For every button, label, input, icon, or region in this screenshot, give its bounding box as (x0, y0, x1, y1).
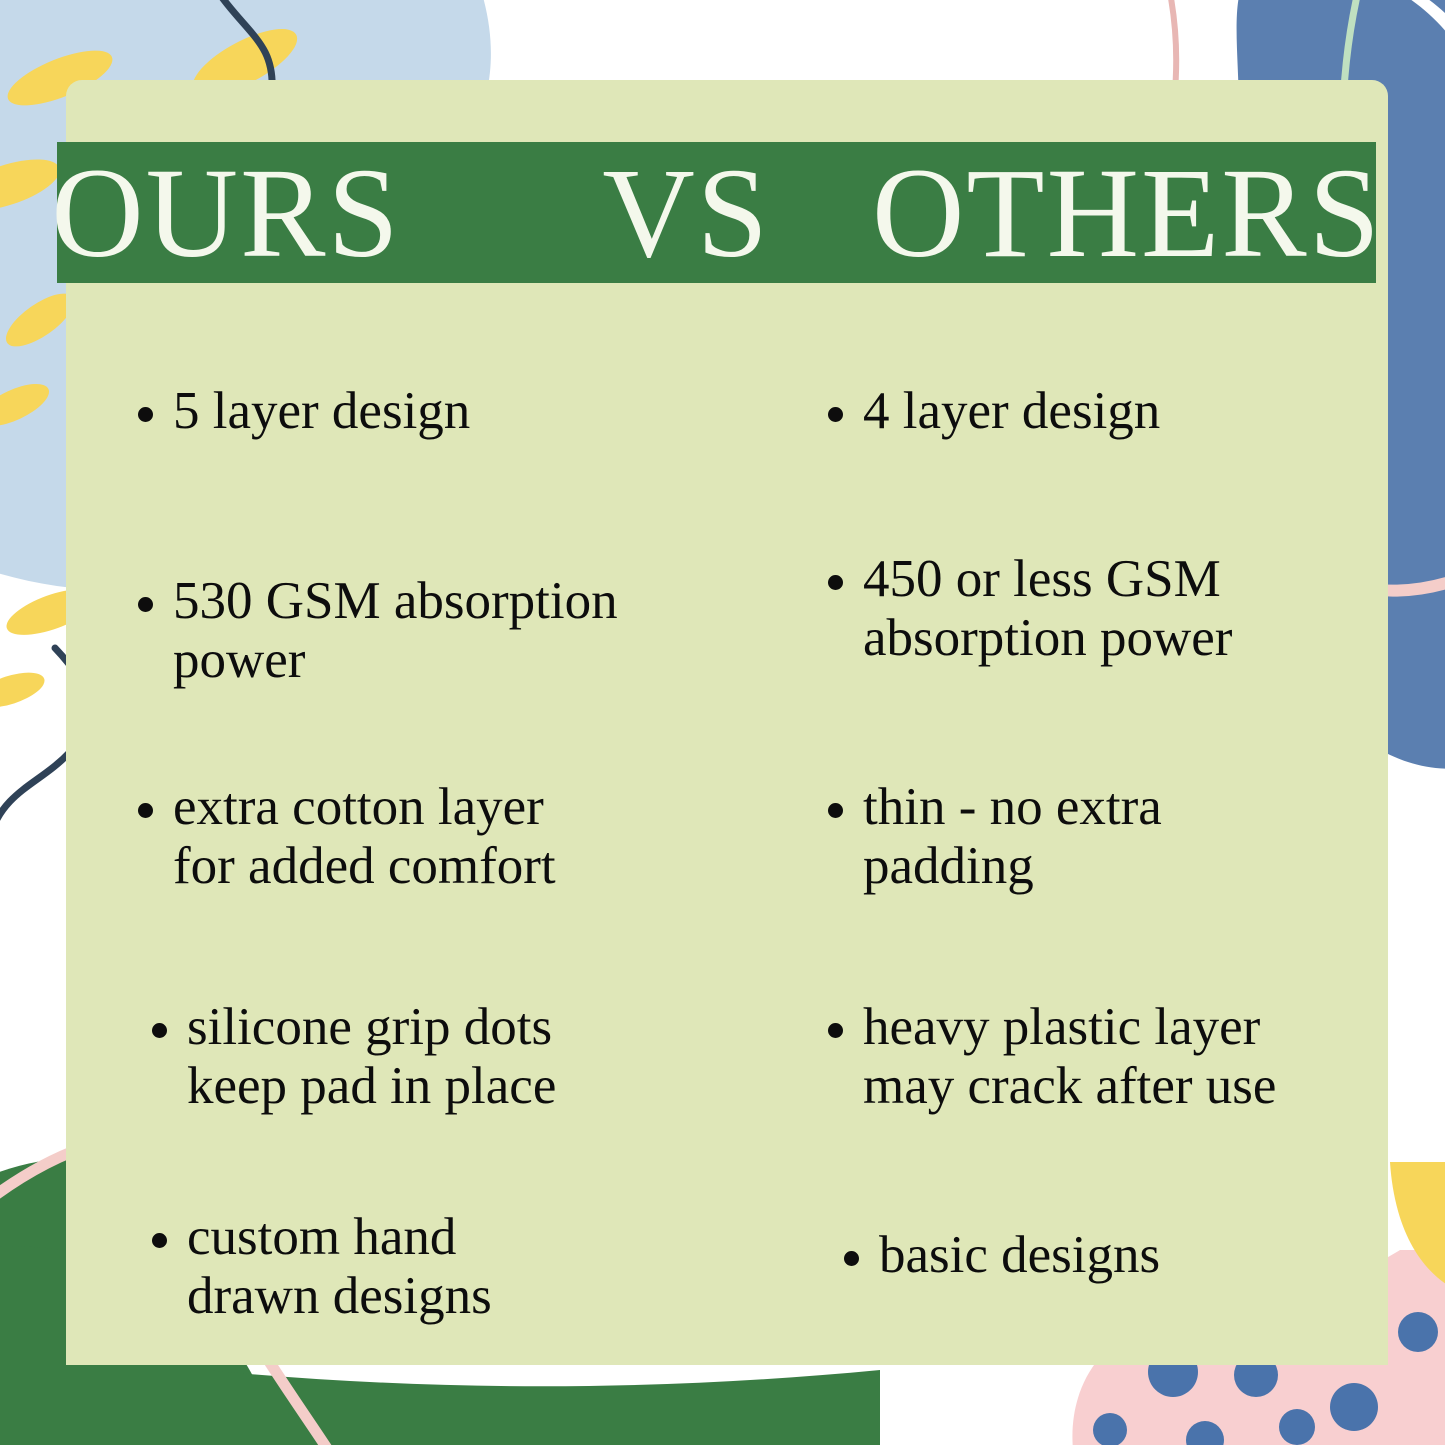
list-item: heavy plastic layer may crack after use (828, 998, 1276, 1117)
dot-blue-5 (1279, 1409, 1315, 1445)
bullet-dot-icon (152, 1023, 167, 1038)
list-item-label: silicone grip dots keep pad in place (187, 998, 556, 1117)
list-item-label: 5 layer design (173, 382, 470, 441)
list-item-label: custom hand drawn designs (187, 1208, 492, 1327)
comparison-card: OURS VS OTHERS 5 layer design 530 GSM ab… (66, 80, 1388, 1365)
list-item: silicone grip dots keep pad in place (152, 998, 556, 1117)
list-item-label: heavy plastic layer may crack after use (863, 998, 1276, 1117)
bullet-dot-icon (138, 803, 153, 818)
list-item: 5 layer design (138, 382, 470, 441)
list-item: 4 layer design (828, 382, 1160, 441)
bullet-dot-icon (828, 1023, 843, 1038)
list-item: custom hand drawn designs (152, 1208, 492, 1327)
dot-blue-4 (1330, 1383, 1378, 1431)
bullet-dot-icon (138, 597, 153, 612)
list-item: thin - no extra padding (828, 778, 1162, 897)
list-item-label: 530 GSM absorption power (173, 572, 618, 691)
list-item-label: 450 or less GSM absorption power (863, 550, 1232, 669)
header-banner: OURS VS OTHERS (57, 142, 1376, 283)
dot-blue-6 (1398, 1312, 1438, 1352)
list-item: basic designs (844, 1226, 1160, 1285)
list-item: 450 or less GSM absorption power (828, 550, 1232, 669)
bullet-dot-icon (844, 1251, 859, 1266)
bullet-dot-icon (138, 407, 153, 422)
comparison-columns: 5 layer design 530 GSM absorption power … (66, 360, 1388, 1365)
blob-bottom-strip-green (185, 1368, 880, 1445)
list-item: extra cotton layer for added comfort (138, 778, 556, 897)
list-item-label: basic designs (879, 1226, 1160, 1285)
list-item-label: thin - no extra padding (863, 778, 1162, 897)
column-others: 4 layer design 450 or less GSM absorptio… (806, 360, 1388, 1365)
column-ours: 5 layer design 530 GSM absorption power … (66, 360, 806, 1365)
list-item-label: extra cotton layer for added comfort (173, 778, 556, 897)
bullet-dot-icon (828, 407, 843, 422)
bullet-dot-icon (828, 803, 843, 818)
infographic-canvas: OURS VS OTHERS 5 layer design 530 GSM ab… (0, 0, 1445, 1445)
list-item: 530 GSM absorption power (138, 572, 618, 691)
bullet-dot-icon (152, 1233, 167, 1248)
bullet-dot-icon (828, 575, 843, 590)
page-title: OURS VS OTHERS (51, 149, 1382, 277)
list-item-label: 4 layer design (863, 382, 1160, 441)
